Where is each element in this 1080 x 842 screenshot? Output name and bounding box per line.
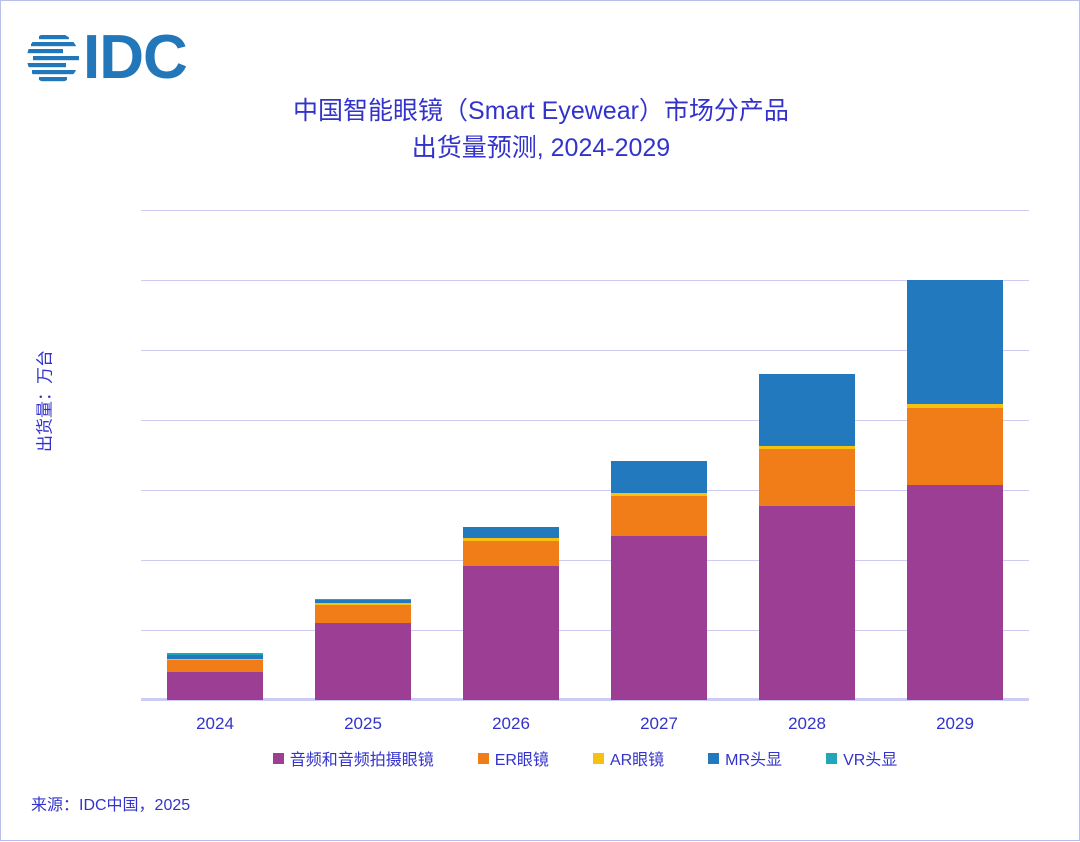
x-axis-tick-label: 2027	[585, 714, 733, 734]
bar-group-2024: 2024	[141, 210, 289, 700]
bar-group-2026: 2026	[437, 210, 585, 700]
legend-swatch	[273, 753, 284, 764]
x-axis-tick-label: 2025	[289, 714, 437, 734]
x-axis-tick-label: 2026	[437, 714, 585, 734]
source-note: 来源：IDC中国，2025	[31, 791, 190, 815]
x-axis-tick-label: 2028	[733, 714, 881, 734]
bar-series-group: 202420252026202720282029	[141, 210, 1029, 700]
bar-segment[interactable]	[611, 536, 707, 700]
x-axis-tick-label: 2024	[141, 714, 289, 734]
bar-segment[interactable]	[907, 485, 1003, 700]
plot-wrapper: 出货量：万台 1,4001,2001,0008006004002000 2024…	[1, 1, 1080, 842]
bar-group-2027: 2027	[585, 210, 733, 700]
legend-label: ER眼镜	[495, 746, 549, 770]
chart-legend: 音频和音频拍摄眼镜ER眼镜AR眼镜MR头显VR头显	[141, 746, 1029, 770]
bar-segment[interactable]	[315, 605, 411, 623]
legend-label: MR头显	[725, 746, 782, 770]
x-axis-tick-label: 2029	[881, 714, 1029, 734]
legend-item[interactable]: VR头显	[826, 746, 897, 770]
bar-group-2029: 2029	[881, 210, 1029, 700]
legend-swatch	[593, 753, 604, 764]
bar-stack[interactable]	[759, 374, 855, 700]
bar-stack[interactable]	[907, 280, 1003, 700]
bar-stack[interactable]	[315, 599, 411, 700]
bar-segment[interactable]	[907, 408, 1003, 484]
bar-group-2028: 2028	[733, 210, 881, 700]
bar-stack[interactable]	[463, 527, 559, 700]
legend-item[interactable]: AR眼镜	[593, 746, 664, 770]
legend-item[interactable]: MR头显	[708, 746, 782, 770]
gridline	[141, 700, 1029, 701]
legend-swatch	[478, 753, 489, 764]
y-axis-title: 出货量：万台	[31, 331, 56, 471]
bar-group-2025: 2025	[289, 210, 437, 700]
legend-swatch	[708, 753, 719, 764]
bar-segment[interactable]	[463, 541, 559, 566]
bar-segment[interactable]	[759, 449, 855, 506]
legend-item[interactable]: 音频和音频拍摄眼镜	[273, 746, 434, 770]
bar-segment[interactable]	[759, 374, 855, 446]
bar-segment[interactable]	[167, 660, 263, 672]
bar-stack[interactable]	[167, 653, 263, 700]
bar-segment[interactable]	[759, 506, 855, 700]
legend-label: VR头显	[843, 746, 897, 770]
bar-segment[interactable]	[463, 527, 559, 539]
bar-segment[interactable]	[167, 672, 263, 700]
legend-label: 音频和音频拍摄眼镜	[290, 746, 434, 770]
bar-segment[interactable]	[315, 623, 411, 700]
bar-segment[interactable]	[611, 461, 707, 494]
chart-page: IDC 中国智能眼镜（Smart Eyewear）市场分产品 出货量预测, 20…	[0, 0, 1080, 841]
bar-segment[interactable]	[611, 496, 707, 536]
bar-segment[interactable]	[907, 280, 1003, 404]
legend-item[interactable]: ER眼镜	[478, 746, 549, 770]
bar-stack[interactable]	[611, 461, 707, 700]
bar-segment[interactable]	[463, 566, 559, 700]
legend-label: AR眼镜	[610, 746, 664, 770]
plot-area: 1,4001,2001,0008006004002000 20242025202…	[141, 210, 1029, 700]
legend-swatch	[826, 753, 837, 764]
